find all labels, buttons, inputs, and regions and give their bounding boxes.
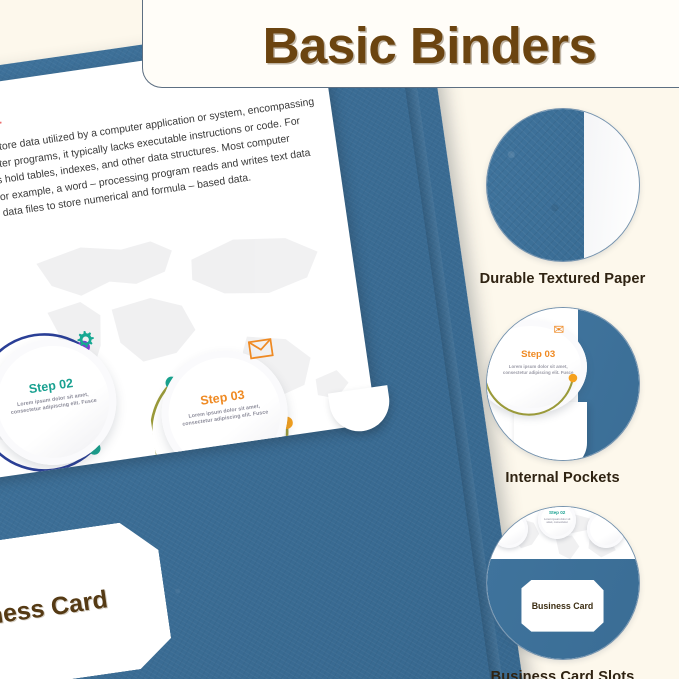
envelope-icon [247,337,274,360]
feature-caption: Internal Pockets [455,470,670,486]
inset-step-ring [587,510,625,548]
inset-step-description: Lorem ipsum dolor sit amet, consectetur [542,518,572,525]
feature-caption: Business Card Slots [455,669,670,679]
inset-step-ring [490,510,528,548]
envelope-icon: ✉ [553,322,564,338]
gear-icon [74,328,97,351]
feature-callout: Durable Textured Paper [455,108,670,287]
page-title: Basic Binders [249,20,597,87]
business-card-label: Business Card [0,585,110,639]
title-panel: Basic Binders [142,0,679,88]
inserted-document-sheet: Definition of Data A data file is a comp… [0,35,377,499]
pocket-detail-icon: ✉ Step 03 Lorem ipsum dolor sit amet, co… [486,307,640,461]
feature-caption: Durable Textured Paper [455,271,670,287]
inset-business-card: Business Card [521,580,603,632]
blue-textured-half [487,109,584,261]
inset-step-description: Lorem ipsum dolor sit amet, consectetur … [499,364,578,376]
inset-step-label: Step 02 [538,510,576,515]
feature-callout: ✉ Step 03 Lorem ipsum dolor sit amet, co… [455,307,670,486]
feature-callout: Step 02 Lorem ipsum dolor sit amet, cons… [455,506,670,679]
textured-paper-swatch-icon [486,108,640,262]
inset-step-label: Step 03 [493,349,584,360]
white-paper-half [584,109,639,261]
inset-business-card-label: Business Card [532,601,594,611]
card-slot-detail-icon: Step 02 Lorem ipsum dolor sit amet, cons… [486,506,640,660]
product-image-canvas: Definition of Data A data file is a comp… [0,0,679,679]
step-item: Step 02 Lorem ipsum dolor sit amet, cons… [0,331,125,474]
feature-callout-list: Durable Textured Paper ✉ Step 03 Lorem i… [455,108,670,679]
